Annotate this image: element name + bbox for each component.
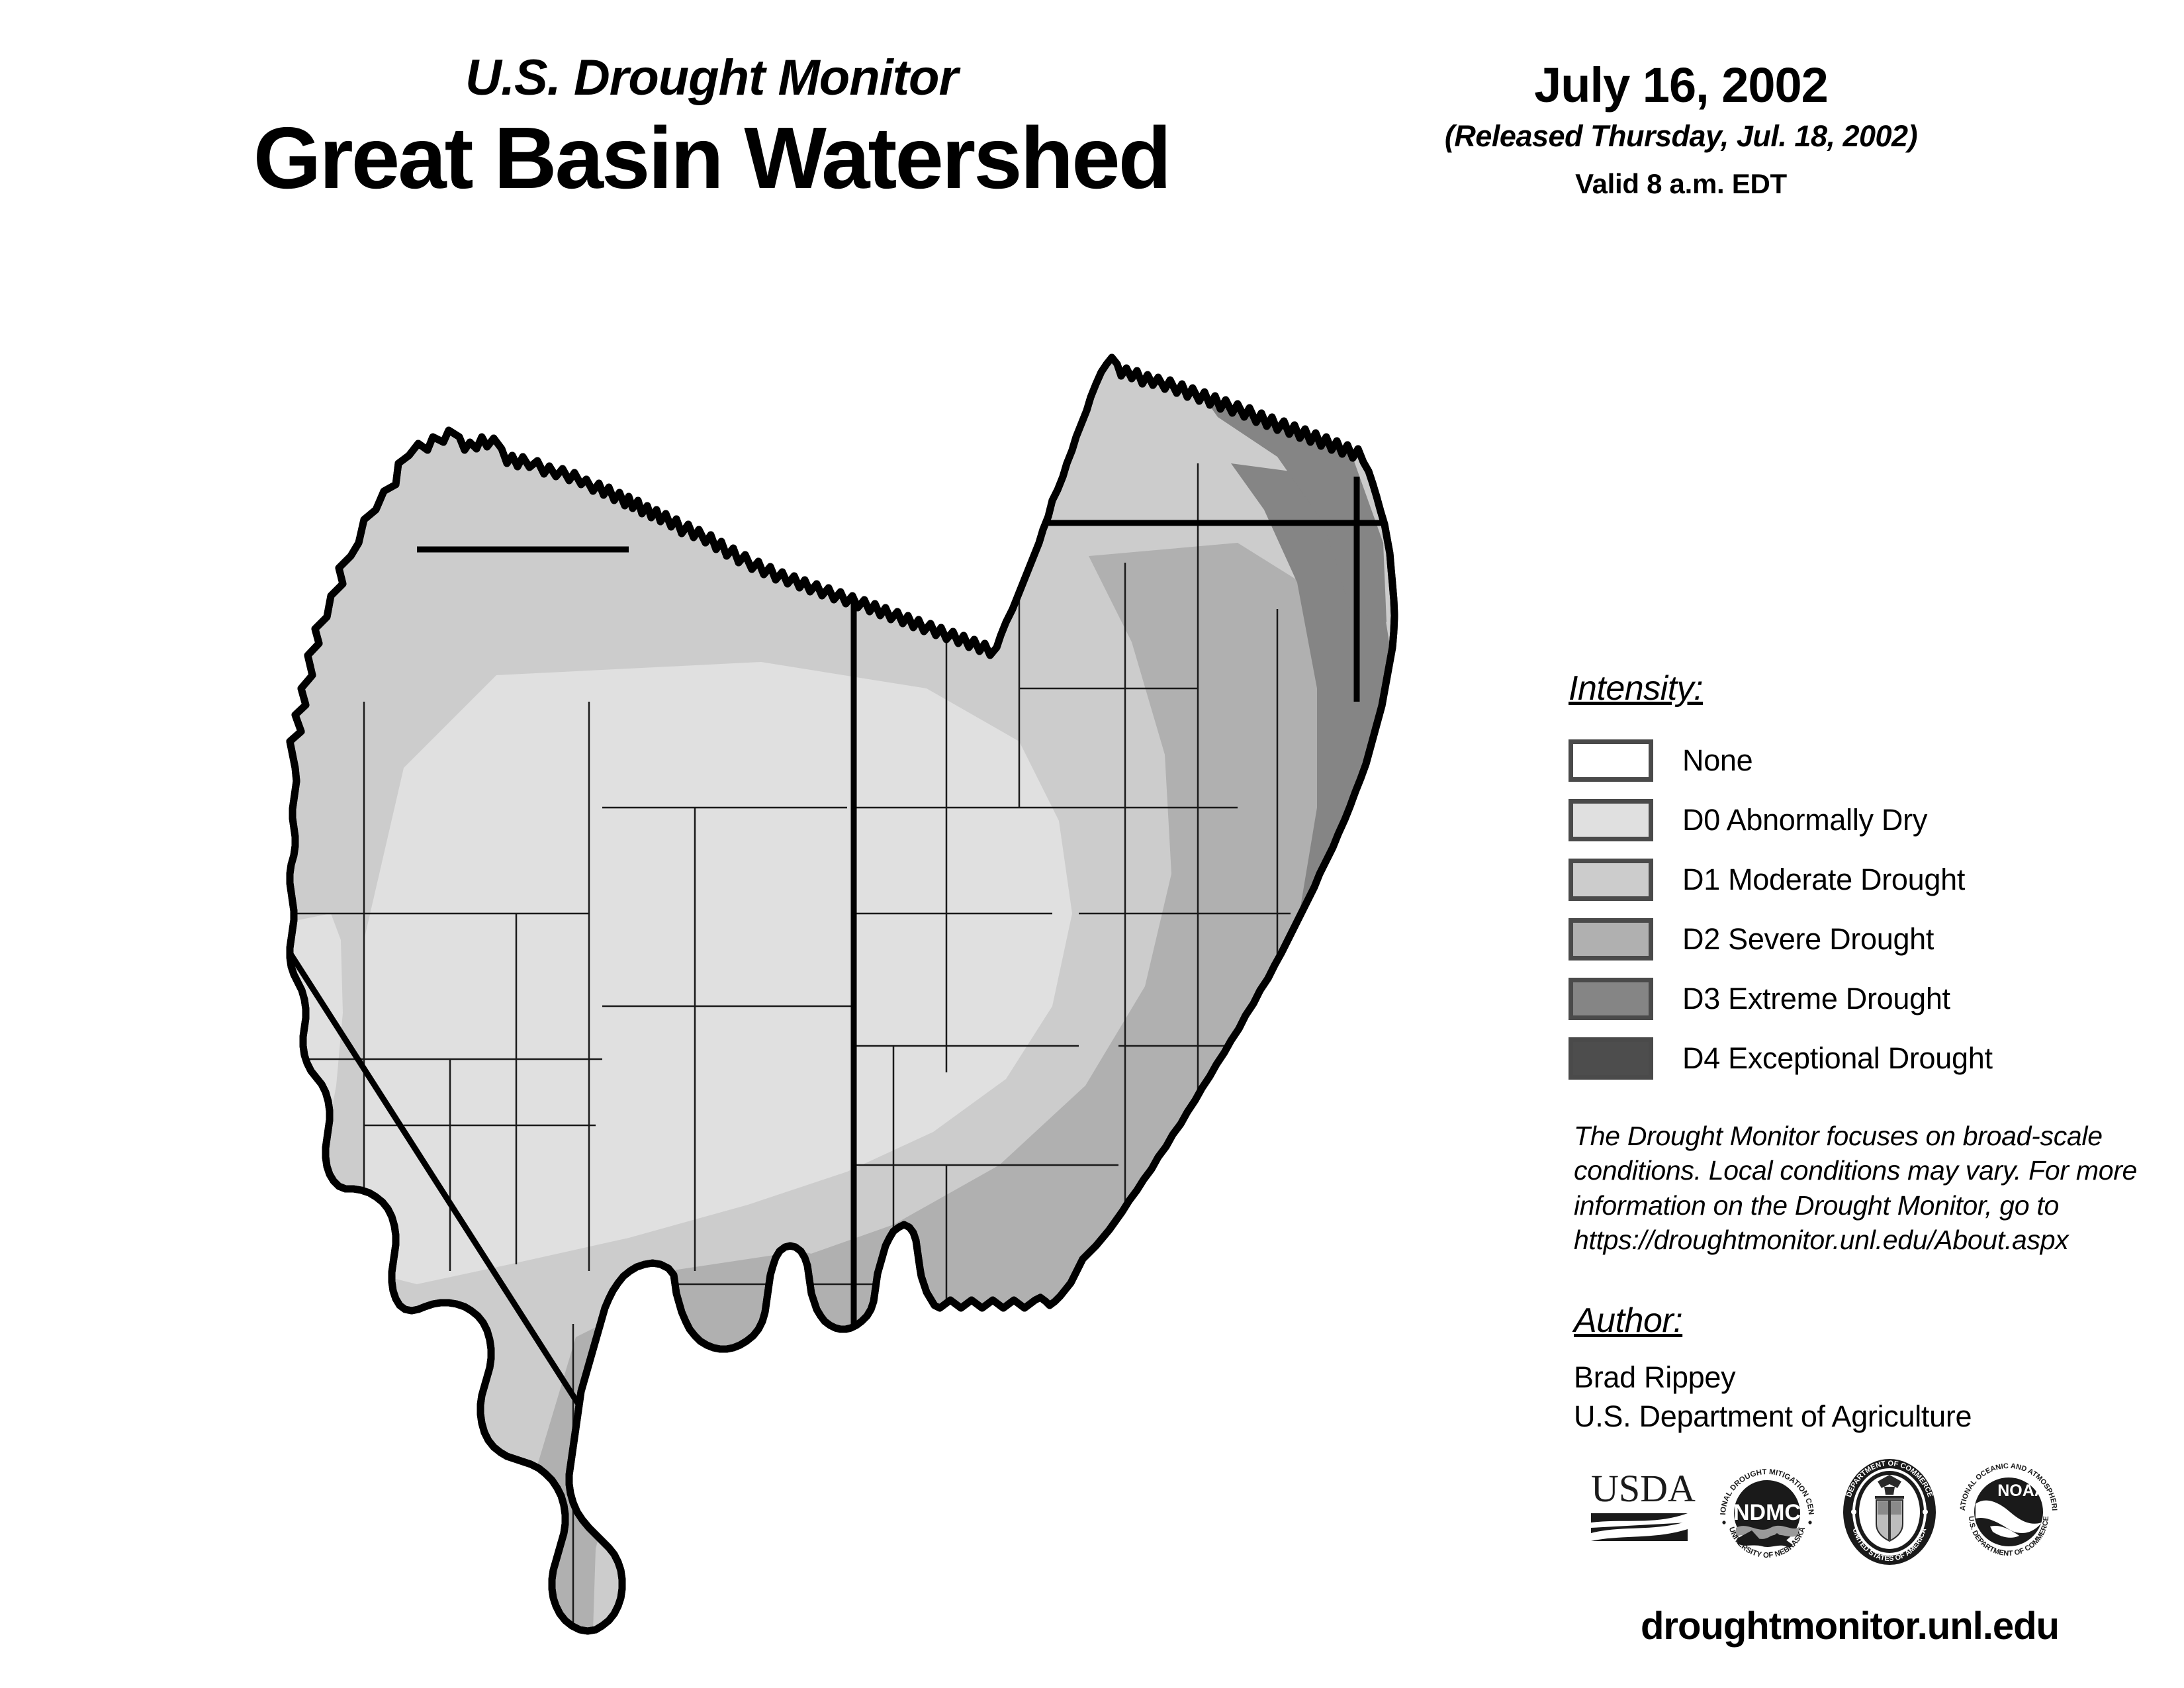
legend-row-d0[interactable]: D0 Abnormally Dry <box>1569 790 2151 850</box>
legend-row-d4[interactable]: D4 Exceptional Drought <box>1569 1029 2151 1088</box>
legend-swatch-none <box>1569 739 1653 782</box>
legend-label-d2: D2 Severe Drought <box>1682 922 1934 957</box>
commerce-logo: DEPARTMENT OF COMMERCE UNITED STATES OF … <box>1837 1455 1942 1568</box>
title-block: U.S. Drought Monitor Great Basin Watersh… <box>199 53 1224 205</box>
noaa-logo: NOAA NATIONAL OCEANIC AND ATMOSPHERIC U.… <box>1956 1455 2062 1568</box>
author-section: Author: Brad Rippey U.S. Department of A… <box>1574 1301 2169 1436</box>
drought-monitor-supertitle: U.S. Drought Monitor <box>199 53 1224 103</box>
drought-fill-layers <box>165 344 1423 1642</box>
footer-url[interactable]: droughtmonitor.unl.edu <box>1575 1604 2124 1648</box>
agency-logos: USDA NDMC NATIONAL DROUGHT MITIGATION CE… <box>1588 1455 2118 1568</box>
author-affiliation: U.S. Department of Agriculture <box>1574 1397 2169 1436</box>
disclaimer-line-1: The Drought Monitor focuses on broad-sca… <box>1574 1119 2169 1153</box>
valid-time: Valid 8 a.m. EDT <box>1383 168 1979 200</box>
disclaimer-text: The Drought Monitor focuses on broad-sca… <box>1574 1119 2169 1258</box>
legend-label-d3: D3 Extreme Drought <box>1682 982 1950 1016</box>
page-title: Great Basin Watershed <box>199 113 1224 205</box>
date-block: July 16, 2002 (Released Thursday, Jul. 1… <box>1383 60 1979 200</box>
disclaimer-line-2: conditions. Local conditions may vary. F… <box>1574 1153 2169 1188</box>
legend-heading: Intensity: <box>1569 669 1703 708</box>
drought-map[interactable] <box>165 344 1423 1642</box>
legend-swatch-d3 <box>1569 978 1653 1020</box>
legend-swatch-d1 <box>1569 859 1653 901</box>
legend-label-d4: D4 Exceptional Drought <box>1682 1041 1993 1076</box>
svg-text:NDMC: NDMC <box>1733 1500 1801 1525</box>
legend-row-d2[interactable]: D2 Severe Drought <box>1569 910 2151 969</box>
usda-logo: USDA <box>1588 1462 1698 1561</box>
disclaimer-link[interactable]: https://droughtmonitor.unl.edu/About.asp… <box>1574 1223 2169 1257</box>
legend-swatch-d2 <box>1569 918 1653 961</box>
valid-date: July 16, 2002 <box>1383 60 1979 111</box>
legend-label-d0: D0 Abnormally Dry <box>1682 803 1927 837</box>
svg-text:USDA: USDA <box>1591 1467 1696 1510</box>
legend: Intensity: None D0 Abnormally Dry D1 Mod… <box>1569 669 2151 1088</box>
svg-text:NOAA: NOAA <box>1997 1481 2046 1500</box>
legend-row-d3[interactable]: D3 Extreme Drought <box>1569 969 2151 1029</box>
disclaimer-line-3: information on the Drought Monitor, go t… <box>1574 1188 2169 1223</box>
legend-swatch-d0 <box>1569 799 1653 841</box>
legend-label-none: None <box>1682 743 1752 778</box>
legend-row-d1[interactable]: D1 Moderate Drought <box>1569 850 2151 910</box>
map-svg <box>165 344 1423 1642</box>
author-name: Brad Rippey <box>1574 1358 2169 1397</box>
legend-swatch-d4 <box>1569 1037 1653 1080</box>
legend-row-none[interactable]: None <box>1569 731 2151 790</box>
released-date: (Released Thursday, Jul. 18, 2002) <box>1383 119 1979 154</box>
author-heading: Author: <box>1574 1301 1682 1340</box>
legend-label-d1: D1 Moderate Drought <box>1682 863 1965 897</box>
ndmc-logo: NDMC NATIONAL DROUGHT MITIGATION CENTER … <box>1711 1455 1823 1568</box>
